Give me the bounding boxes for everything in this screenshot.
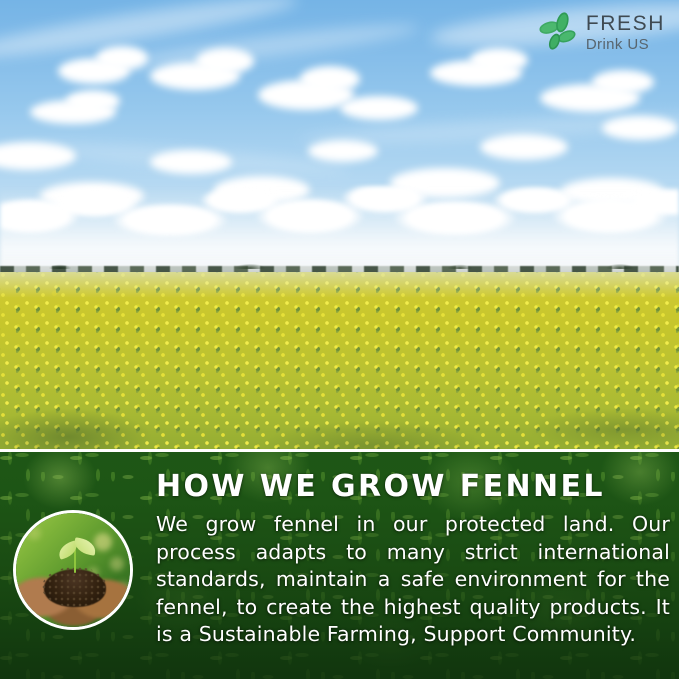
bokeh-light — [94, 533, 112, 551]
brand-logo[interactable]: FRESH Drink US — [531, 8, 671, 56]
cumulus-cloud — [96, 46, 148, 70]
cumulus-cloud — [340, 96, 418, 120]
cumulus-cloud — [308, 140, 378, 162]
soil-speckle — [42, 567, 108, 607]
bokeh-light — [28, 527, 41, 540]
cumulus-cloud — [480, 134, 568, 160]
banner-headline: HOW WE GROW FENNEL — [156, 470, 672, 504]
four-leaf-sprout-icon — [537, 11, 579, 53]
circle-photo-frame — [13, 510, 133, 630]
hero-photo — [0, 0, 679, 451]
horizon-cloud-band — [0, 186, 679, 272]
cumulus-cloud — [196, 48, 254, 74]
cumulus-cloud — [66, 90, 120, 112]
seedling-stem — [74, 549, 76, 573]
field-shadow — [0, 272, 679, 451]
cumulus-cloud — [0, 142, 76, 170]
brand-wordmark: FRESH Drink US — [586, 13, 665, 52]
cumulus-cloud — [592, 70, 654, 94]
cumulus-cloud — [602, 116, 678, 140]
brand-name-line2: Drink US — [586, 37, 665, 52]
cumulus-cloud — [300, 66, 360, 92]
brand-name-line1: FRESH — [586, 13, 665, 34]
infographic-card: FRESH Drink US HOW WE GROW FENNEL We gro… — [0, 0, 679, 679]
cumulus-cloud — [470, 48, 528, 72]
hands-holding-soil-image — [16, 513, 130, 627]
cumulus-cloud — [150, 150, 232, 174]
banner-body-text: We grow fennel in our protected land. Ou… — [156, 511, 670, 649]
field-haze — [0, 272, 679, 298]
